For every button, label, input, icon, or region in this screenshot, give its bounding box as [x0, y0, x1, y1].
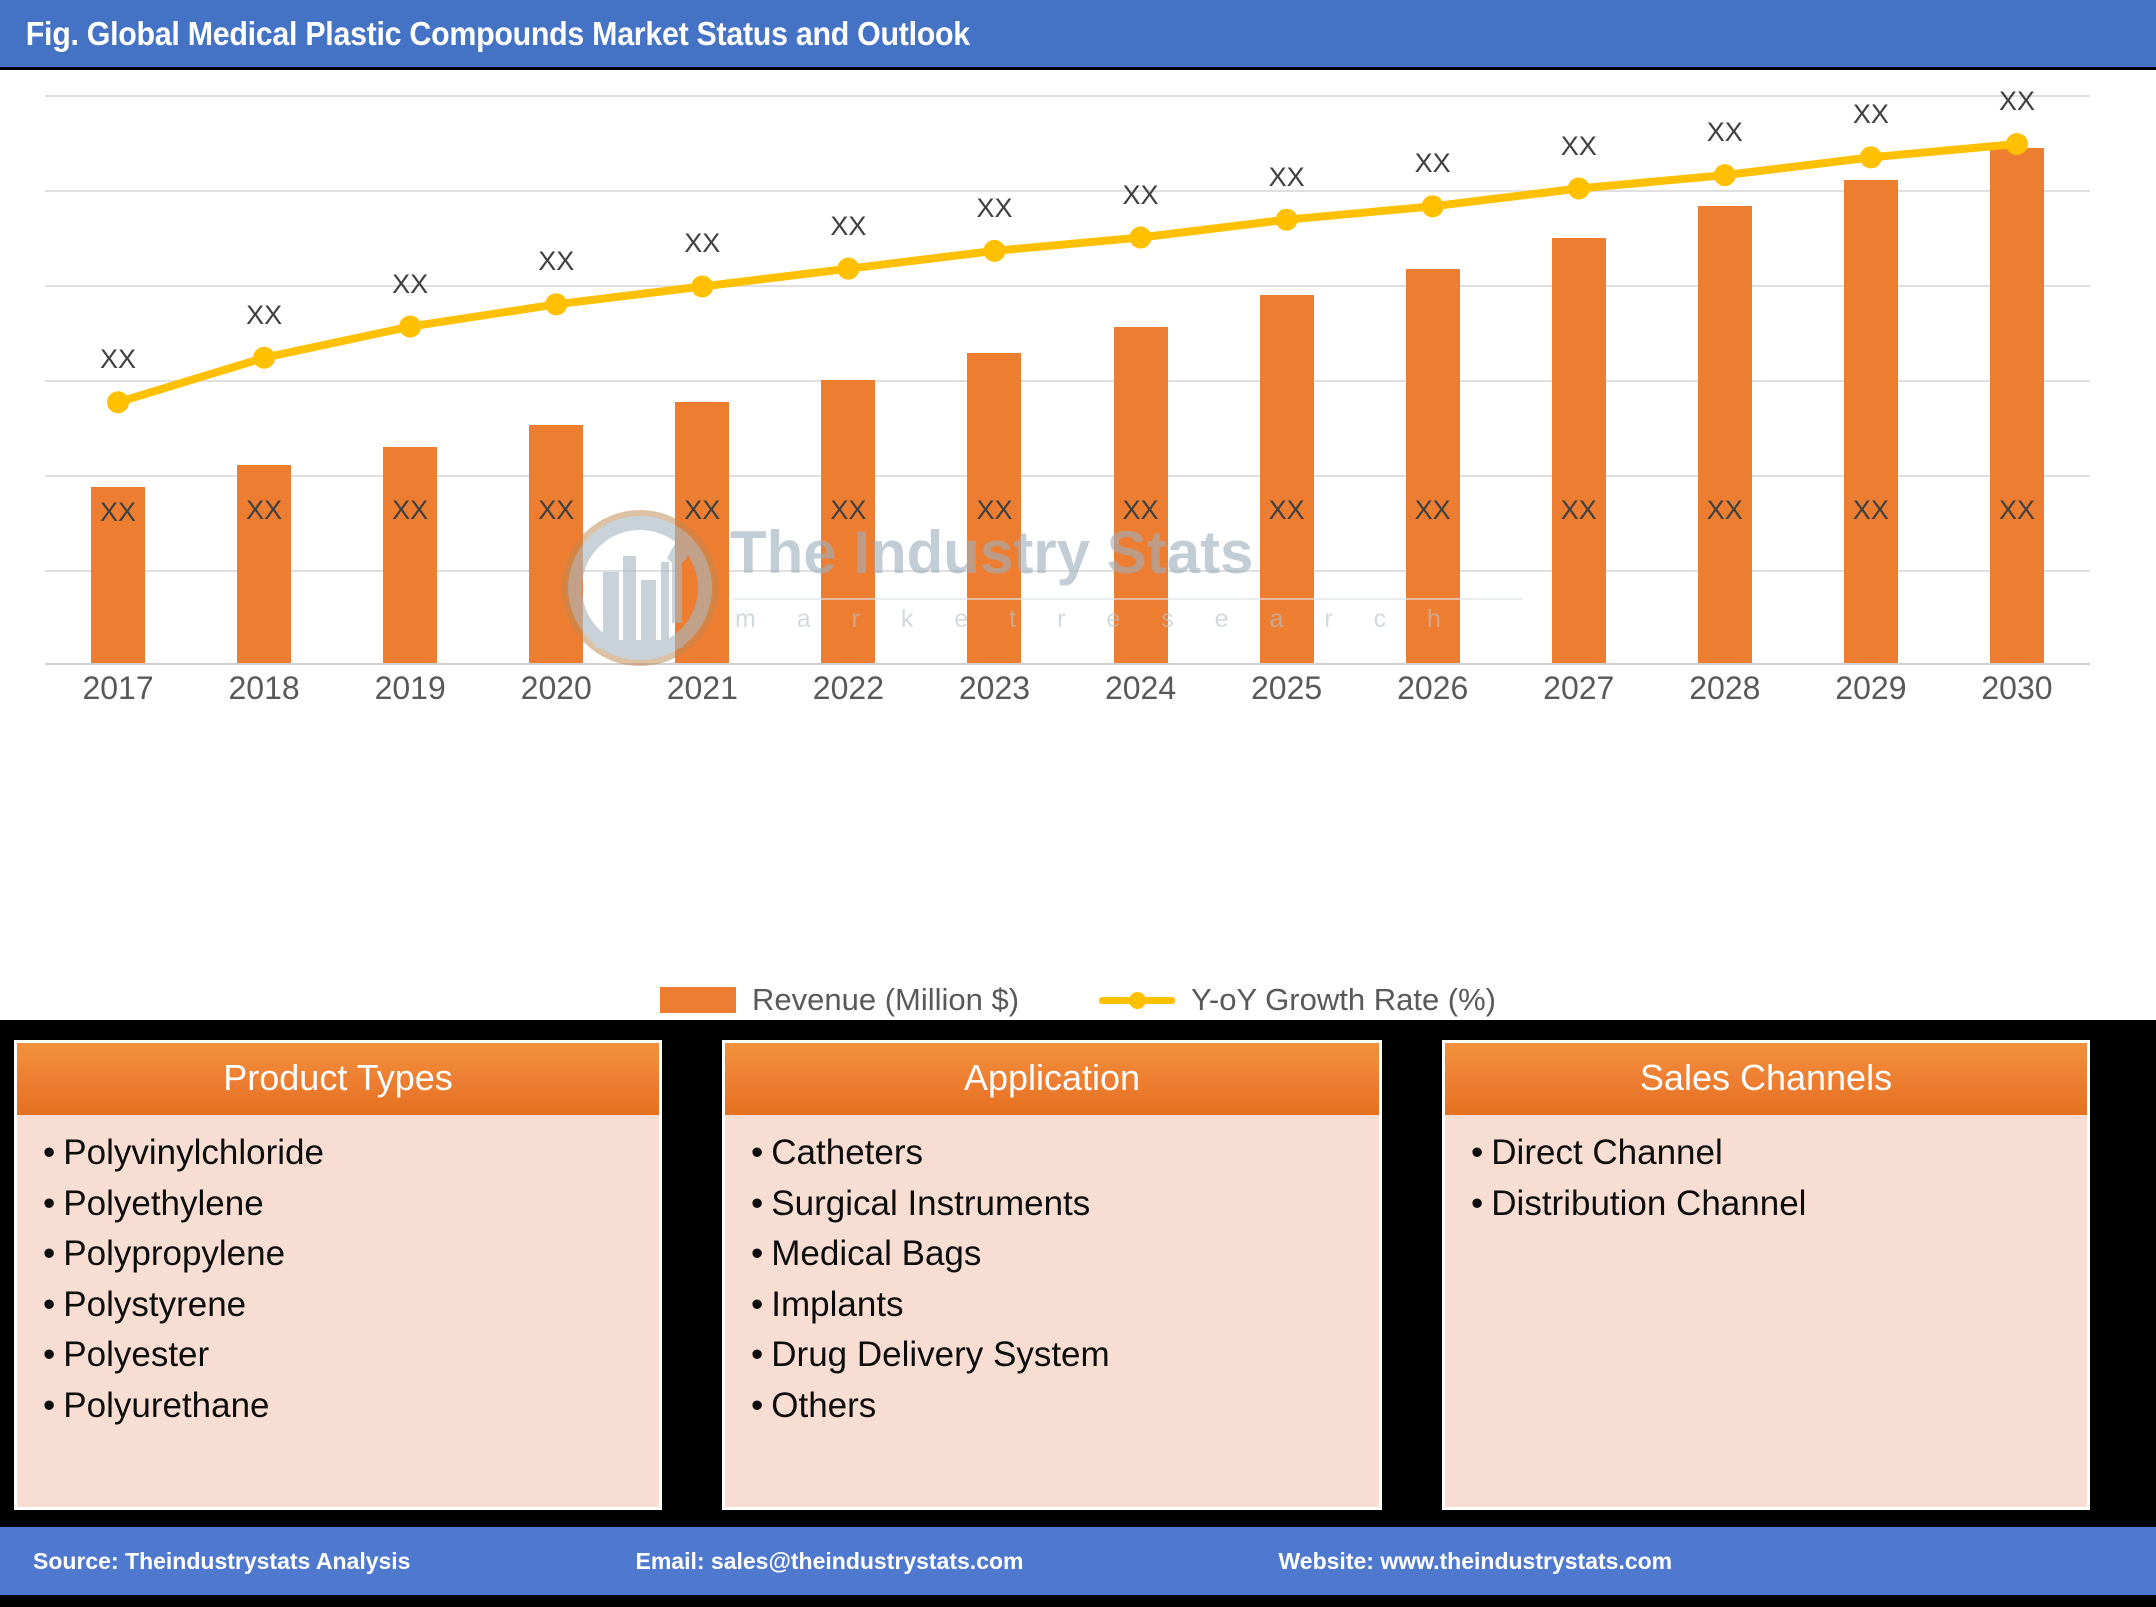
bar-2024[interactable]: XX	[1114, 327, 1168, 665]
growth-value-label: XX	[684, 228, 720, 259]
growth-point-2019[interactable]	[399, 316, 421, 338]
chart-plot-area: XXXXXXXXXXXXXXXXXXXXXXXXXXXX XXXXXXXXXXX…	[45, 95, 2090, 665]
panel-body: PolyvinylchloridePolyethylenePolypropyle…	[17, 1115, 659, 1507]
bar-value-label: XX	[237, 495, 291, 526]
bar-2026[interactable]: XX	[1406, 269, 1460, 665]
list-item[interactable]: Polyurethane	[43, 1386, 633, 1426]
footer-bar: Source: Theindustrystats Analysis Email:…	[0, 1527, 2156, 1595]
list-item[interactable]: Implants	[751, 1285, 1353, 1325]
growth-value-label: XX	[392, 269, 428, 300]
legend-label-growth: Y-oY Growth Rate (%)	[1191, 982, 1496, 1018]
legend-marker-growth	[1099, 987, 1175, 1013]
growth-value-label: XX	[976, 193, 1012, 224]
footer-website[interactable]: Website: www.theindustrystats.com	[1279, 1548, 1673, 1575]
bar-value-label: XX	[1406, 495, 1460, 526]
growth-point-2026[interactable]	[1422, 195, 1444, 217]
growth-point-2025[interactable]	[1276, 209, 1298, 231]
bar-2030[interactable]: XX	[1990, 148, 2044, 665]
growth-point-2023[interactable]	[983, 240, 1005, 262]
bar-value-label: XX	[1114, 495, 1168, 526]
bar-value-label: XX	[675, 495, 729, 526]
growth-value-label: XX	[1415, 148, 1451, 179]
list-item[interactable]: Polyethylene	[43, 1184, 633, 1224]
legend-item-growth[interactable]: Y-oY Growth Rate (%)	[1099, 982, 1496, 1018]
x-tick-2030: 2030	[1981, 670, 2052, 707]
x-tick-2019: 2019	[375, 670, 446, 707]
list-item[interactable]: Direct Channel	[1471, 1133, 2061, 1173]
x-tick-2021: 2021	[667, 670, 738, 707]
panel-body: Direct ChannelDistribution Channel	[1445, 1115, 2087, 1507]
growth-value-label: XX	[246, 300, 282, 331]
x-tick-2025: 2025	[1251, 670, 1322, 707]
growth-point-2022[interactable]	[837, 258, 859, 280]
gridline	[45, 475, 2090, 477]
chart-panel: XXXXXXXXXXXXXXXXXXXXXXXXXXXX XXXXXXXXXXX…	[0, 70, 2156, 1020]
x-tick-2024: 2024	[1105, 670, 1176, 707]
gridline	[45, 380, 2090, 382]
x-tick-2027: 2027	[1543, 670, 1614, 707]
list-item[interactable]: Distribution Channel	[1471, 1184, 2061, 1224]
bar-2022[interactable]: XX	[821, 380, 875, 665]
x-tick-2018: 2018	[229, 670, 300, 707]
bar-2020[interactable]: XX	[529, 425, 583, 665]
gridline	[45, 190, 2090, 192]
growth-point-2028[interactable]	[1714, 164, 1736, 186]
header-bar: Fig. Global Medical Plastic Compounds Ma…	[0, 0, 2156, 67]
growth-value-label: XX	[1853, 99, 1889, 130]
growth-point-2029[interactable]	[1860, 146, 1882, 168]
x-tick-2023: 2023	[959, 670, 1030, 707]
gridline	[45, 285, 2090, 287]
growth-value-label: XX	[1269, 162, 1305, 193]
bar-2023[interactable]: XX	[967, 353, 1021, 665]
list-item[interactable]: Polyester	[43, 1335, 633, 1375]
bar-2028[interactable]: XX	[1698, 206, 1752, 665]
growth-point-2027[interactable]	[1568, 178, 1590, 200]
growth-value-label: XX	[1707, 117, 1743, 148]
bar-2017[interactable]: XX	[91, 487, 145, 665]
bar-value-label: XX	[91, 497, 145, 528]
category-panels: Product TypesPolyvinylchloridePolyethyle…	[0, 1040, 2156, 1510]
list-item[interactable]: Drug Delivery System	[751, 1335, 1353, 1375]
growth-value-label: XX	[830, 211, 866, 242]
growth-value-label: XX	[1999, 86, 2035, 117]
bar-2029[interactable]: XX	[1844, 180, 1898, 665]
bar-value-label: XX	[821, 495, 875, 526]
list-item[interactable]: Polypropylene	[43, 1234, 633, 1274]
panel-product-types: Product TypesPolyvinylchloridePolyethyle…	[14, 1040, 662, 1510]
list-item[interactable]: Medical Bags	[751, 1234, 1353, 1274]
gridline	[45, 95, 2090, 97]
bar-2021[interactable]: XX	[675, 402, 729, 665]
bar-value-label: XX	[1990, 495, 2044, 526]
footer-source: Source: Theindustrystats Analysis	[33, 1548, 410, 1575]
bar-value-label: XX	[1844, 495, 1898, 526]
growth-point-2024[interactable]	[1130, 227, 1152, 249]
panel-sales-channels: Sales ChannelsDirect ChannelDistribution…	[1442, 1040, 2090, 1510]
list-item[interactable]: Surgical Instruments	[751, 1184, 1353, 1224]
growth-value-label: XX	[1123, 180, 1159, 211]
list-item[interactable]: Polystyrene	[43, 1285, 633, 1325]
x-tick-2020: 2020	[521, 670, 592, 707]
growth-point-2018[interactable]	[253, 347, 275, 369]
gridline	[45, 570, 2090, 572]
panel-title: Sales Channels	[1445, 1043, 2087, 1115]
chart-legend: Revenue (Million $) Y-oY Growth Rate (%)	[0, 970, 2156, 1030]
page-title: Fig. Global Medical Plastic Compounds Ma…	[0, 15, 970, 53]
list-item[interactable]: Polyvinylchloride	[43, 1133, 633, 1173]
bar-value-label: XX	[967, 495, 1021, 526]
bar-value-label: XX	[383, 495, 437, 526]
growth-point-2020[interactable]	[545, 293, 567, 315]
growth-point-2017[interactable]	[107, 391, 129, 413]
panel-body: CathetersSurgical InstrumentsMedical Bag…	[725, 1115, 1379, 1507]
growth-value-label: XX	[538, 246, 574, 277]
x-tick-2028: 2028	[1689, 670, 1760, 707]
bar-value-label: XX	[1698, 495, 1752, 526]
legend-item-revenue[interactable]: Revenue (Million $)	[660, 982, 1019, 1018]
panel-title: Product Types	[17, 1043, 659, 1115]
legend-swatch-revenue	[660, 987, 736, 1013]
chart-axis-line	[45, 663, 2090, 665]
x-tick-2022: 2022	[813, 670, 884, 707]
panel-title: Application	[725, 1043, 1379, 1115]
growth-value-label: XX	[100, 344, 136, 375]
list-item[interactable]: Others	[751, 1386, 1353, 1426]
growth-value-label: XX	[1561, 131, 1597, 162]
bar-2018[interactable]: XX	[237, 465, 291, 665]
x-tick-2029: 2029	[1835, 670, 1906, 707]
x-tick-2026: 2026	[1397, 670, 1468, 707]
list-item[interactable]: Catheters	[751, 1133, 1353, 1173]
footer-email[interactable]: Email: sales@theindustrystats.com	[635, 1548, 1023, 1575]
bar-value-label: XX	[1260, 495, 1314, 526]
bar-2019[interactable]: XX	[383, 447, 437, 665]
panel-application: ApplicationCathetersSurgical Instruments…	[722, 1040, 1382, 1510]
bar-2027[interactable]: XX	[1552, 238, 1606, 666]
x-tick-2017: 2017	[82, 670, 153, 707]
legend-label-revenue: Revenue (Million $)	[752, 982, 1019, 1018]
bar-value-label: XX	[1552, 495, 1606, 526]
bar-2025[interactable]: XX	[1260, 295, 1314, 665]
bar-value-label: XX	[529, 495, 583, 526]
